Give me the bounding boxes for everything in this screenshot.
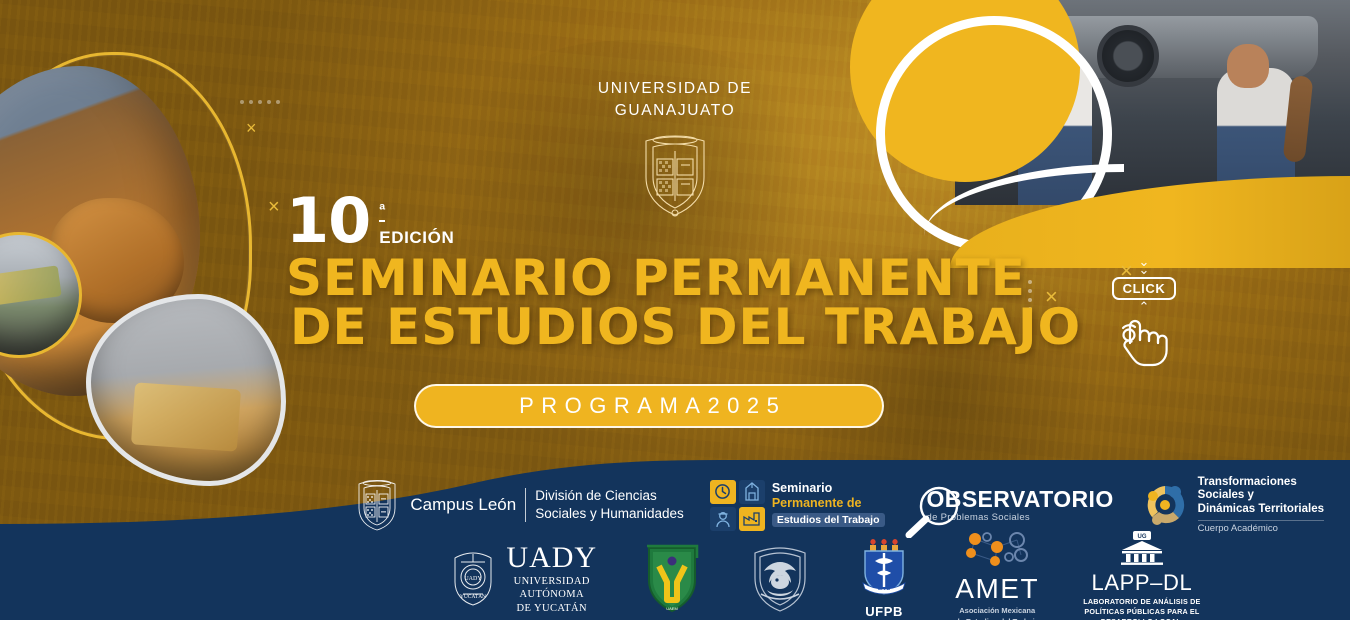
ufpb-logo: UFPB UFPB [857,539,911,619]
people-circle-icon [1140,480,1190,530]
network-nodes-icon [955,531,1039,567]
footer-logo-bar: Campus León División de Ciencias Sociale… [0,460,1350,620]
university-name-line2: GUANAJUATO [615,102,736,119]
hero-title-line2: DE ESTUDIOS DEL TRABAJO [290,303,1081,352]
pointing-hand-cursor-icon [1114,313,1174,367]
clock-icon [710,480,736,504]
click-button-label[interactable]: CLICK [1112,277,1177,300]
observatorio-logo: OBSERVATORIO de Problemas Sociales [911,488,1114,523]
building-icon [739,480,765,504]
uaem-green-shield-icon: UAEM [641,544,703,614]
edition-number: 10 [286,196,370,247]
amet-sub-line1: Asociación Mexicana [959,606,1035,615]
seminario-line1: Seminario [772,481,885,495]
svg-text:UG: UG [1137,534,1146,540]
seminario-line2: Permanente de [772,496,885,510]
lapp-sub-line2: POLÍTICAS PÚBLICAS PARA EL [1084,607,1199,616]
amet-acronym: AMET [955,575,1039,603]
campus-division-line1: División de Ciencias [535,488,657,503]
hero-title-line1: SEMINARIO PERMANENTE [286,254,1081,303]
campus-division-line2: Sociales y Humanidades [535,506,684,521]
uady-line3: DE YUCATÁN [517,603,587,614]
transformaciones-line1: Transformaciones [1198,476,1324,490]
svg-text:UADY: UADY [465,576,483,582]
chevron-up-icon: ⌃ [1098,303,1190,311]
uady-line2: AUTÓNOMA [520,589,584,600]
footer-logo-row-bottom: UADY YUCATÁN UADY UNIVERSIDAD AUTÓNOMA D… [20,536,1330,620]
uady-crest-icon: UADY YUCATÁN [449,550,497,608]
svg-text:UAEM: UAEM [666,606,678,611]
ufpb-label: UFPB [857,604,911,619]
transformaciones-line3: Dinámicas Territoriales [1198,503,1324,517]
edition-ordinal: ª [379,203,385,222]
ug-classical-building-icon: UG [1116,531,1168,565]
lapp-sub-line1: LABORATORIO DE ANÁLISIS DE [1083,597,1200,606]
svg-text:UFPB: UFPB [878,586,891,591]
ufpb-torch-shield-icon: UFPB [857,539,911,597]
hero-title-block: 10 ª EDICIÓN SEMINARIO PERMANENTE DE EST… [286,196,1081,351]
chevron-down-icon: ⌄⌄ [1098,258,1190,274]
edition-badge: 10 ª EDICIÓN [286,196,1081,248]
lapp-dl-logo: UG LAPP–DL LABORATORIO DE ANÁLISIS DE PO… [1083,531,1200,620]
campus-leon-logo: Campus León División de Ciencias Sociale… [354,478,683,532]
uady-acronym: UADY [506,543,597,573]
divider [525,488,526,522]
university-name: UNIVERSIDAD DE GUANAJUATO [0,78,1350,123]
amet-logo: AMET Asociación Mexicana de Estudios del… [955,531,1039,620]
uady-line1: UNIVERSIDAD [514,576,590,587]
factory-icon [739,507,765,531]
unam-eagle-crest-icon [747,544,813,614]
click-call-to-action[interactable]: ⌄⌄ CLICK ⌃ [1098,258,1190,372]
campus-name: Campus León [410,495,516,515]
event-promo-banner: UNIVERSIDAD DE GUANAJUATO [0,0,1350,620]
seminario-icon-grid [710,480,765,531]
seminario-permanente-logo: Seminario Permanente de Estudios del Tra… [710,480,885,531]
lapp-acronym: LAPP–DL [1083,572,1200,594]
svg-text:YUCATÁN: YUCATÁN [460,592,486,600]
magnifying-glass-icon [899,486,963,538]
uady-logo: UADY YUCATÁN UADY UNIVERSIDAD AUTÓNOMA D… [449,543,597,616]
worker-icon [710,507,736,531]
seminario-line3: Estudios del Trabajo [772,513,885,527]
university-name-line1: UNIVERSIDAD DE [598,80,752,97]
programa-2025-pill[interactable]: PROGRAMA2025 [414,384,884,428]
amet-sub-line2: de Estudios del Trabajo [955,617,1039,620]
footer-logo-row-top: Campus León División de Ciencias Sociale… [20,474,1330,536]
transformaciones-line2: Sociales y [1198,489,1324,503]
edition-word: EDICIÓN [379,228,454,248]
transformaciones-sub: Cuerpo Académico [1198,520,1324,534]
campus-leon-crest-icon [354,478,400,532]
transformaciones-logo: Transformaciones Sociales y Dinámicas Te… [1140,476,1324,535]
